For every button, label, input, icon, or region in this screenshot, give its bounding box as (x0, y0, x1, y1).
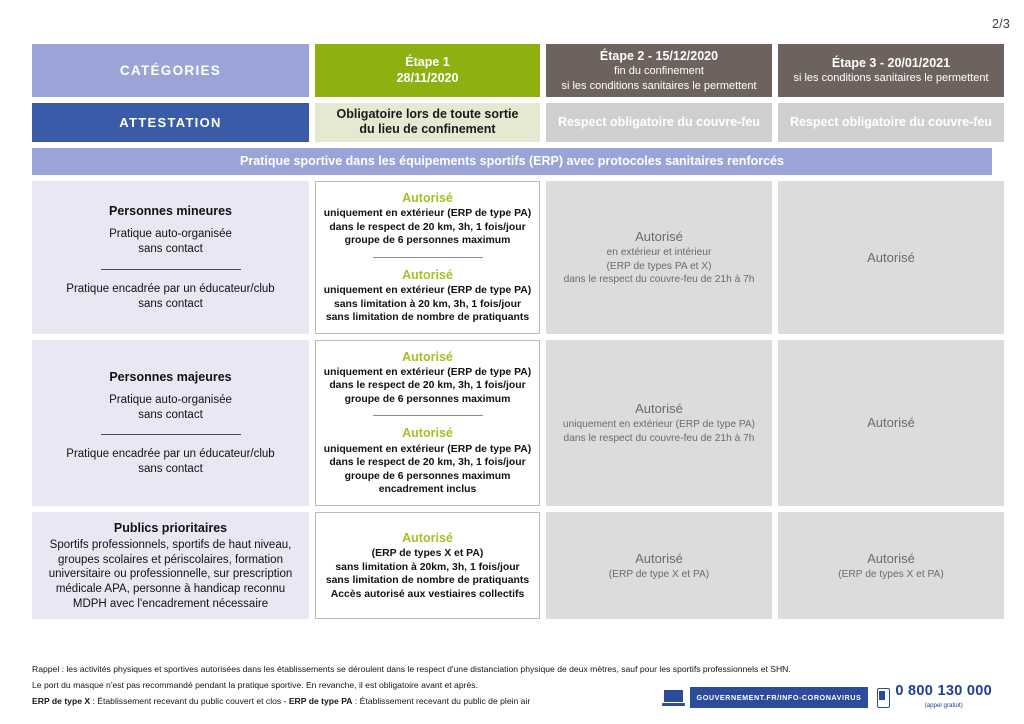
step-1-a-line3: groupe de 6 personnes maximum (324, 393, 531, 407)
step-1-a-line4: Accès autorisé aux vestiaires collectifs (326, 588, 529, 602)
step-1-divider (373, 415, 483, 416)
attestation-step-3: Respect obligatoire du couvre-feu (778, 103, 1004, 142)
hotline-number: 0 800 130 000 (895, 684, 992, 699)
category-title: Personnes mineures (109, 203, 232, 219)
step-3-line1: (ERP de types X et PA) (838, 568, 944, 582)
category-title: Personnes majeures (109, 369, 231, 385)
step-2-line1: en extérieur et intérieur (564, 246, 755, 260)
category-divider (101, 269, 241, 270)
step-1-block-b: Autorisé uniquement en extérieur (ERP de… (324, 267, 531, 325)
step-1-a-line1: (ERP de types X et PA) (326, 547, 529, 561)
step-1-b-line2: sans limitation à 20 km, 3h, 1 fois/jour (324, 298, 531, 312)
footer-line-1: Rappel : les activités physiques et spor… (32, 662, 992, 678)
table-row: Personnes majeures Pratique auto-organis… (32, 340, 992, 506)
step-1-cell-prioritaires: Autorisé (ERP de types X et PA) sans lim… (315, 512, 540, 620)
attestation-step-3-text: Respect obligatoire du couvre-feu (790, 115, 992, 129)
status-autorise: Autorisé (564, 228, 755, 245)
category-block-2: Pratique encadrée par un éducateur/club … (66, 282, 274, 311)
category-block-2-line2: sans contact (66, 462, 274, 477)
category-line5: MDPH avec l'encadrement nécessaire (49, 597, 293, 612)
step-1-a-line2: sans limitation à 20km, 3h, 1 fois/jour (326, 561, 529, 575)
header-step-2: Étape 2 - 15/12/2020 fin du confinement … (546, 44, 772, 97)
header-step-1: Étape 1 28/11/2020 (315, 44, 540, 97)
footer-erp-x-text: : Établissement recevant du public couve… (90, 696, 289, 706)
category-block-2: Pratique encadrée par un éducateur/club … (66, 447, 274, 476)
attestation-label: ATTESTATION (32, 103, 309, 142)
attestation-label-text: ATTESTATION (119, 115, 221, 130)
header-categories-label: CATÉGORIES (120, 63, 221, 78)
step-1-a-line3: groupe de 6 personnes maximum (324, 234, 531, 248)
category-line3: universitaire ou professionnelle, sur pr… (49, 567, 293, 582)
attestation-step-1-line1: Obligatoire lors de toute sortie (337, 107, 519, 123)
category-block-1: Pratique auto-organisée sans contact (109, 393, 232, 422)
section-banner: Pratique sportive dans les équipements s… (32, 148, 992, 175)
step-2-line2: (ERP de types PA et X) (564, 260, 755, 274)
category-block-2-line1: Pratique encadrée par un éducateur/club (66, 447, 274, 462)
step-1-a-line1: uniquement en extérieur (ERP de type PA) (324, 207, 531, 221)
status-autorise: Autorisé (324, 425, 531, 441)
attestation-step-1-line2: du lieu de confinement (337, 122, 519, 138)
step-2-line2: dans le respect du couvre-feu de 21h à 7… (563, 432, 755, 446)
category-block-1: Pratique auto-organisée sans contact (109, 227, 232, 256)
step-2-cell-mineures: Autorisé en extérieur et intérieur (ERP … (546, 181, 772, 334)
attestation-step-2: Respect obligatoire du couvre-feu (546, 103, 772, 142)
page-number: 2/3 (992, 17, 1010, 31)
table-row: Publics prioritaires Sportifs profession… (32, 512, 992, 620)
table-header-row: CATÉGORIES Étape 1 28/11/2020 Étape 2 - … (32, 44, 992, 97)
status-autorise: Autorisé (838, 550, 944, 567)
step-1-block-a: Autorisé uniquement en extérieur (ERP de… (324, 349, 531, 407)
category-cell-mineures: Personnes mineures Pratique auto-organis… (32, 181, 309, 334)
step-3-cell-prioritaires: Autorisé (ERP de types X et PA) (778, 512, 1004, 620)
step-1-divider (373, 257, 483, 258)
header-step-1-title: Étape 1 (405, 54, 449, 70)
attestation-row: ATTESTATION Obligatoire lors de toute so… (32, 103, 992, 142)
status-autorise: Autorisé (867, 249, 915, 266)
step-1-b-line3: groupe de 6 personnes maximum (324, 470, 531, 484)
header-step-1-date: 28/11/2020 (397, 70, 459, 86)
government-website-badge[interactable]: GOUVERNEMENT.FR/INFO-CORONAVIRUS (690, 687, 869, 708)
step-1-b-line3: sans limitation de nombre de pratiquants (324, 311, 531, 325)
step-3-cell-mineures: Autorisé (778, 181, 1004, 334)
category-divider (101, 434, 241, 435)
attestation-step-1: Obligatoire lors de toute sortie du lieu… (315, 103, 540, 142)
step-2-line1: (ERP de type X et PA) (609, 568, 709, 582)
status-autorise: Autorisé (324, 349, 531, 365)
step-2-cell-prioritaires: Autorisé (ERP de type X et PA) (546, 512, 772, 620)
step-1-block-a: Autorisé uniquement en extérieur (ERP de… (324, 190, 531, 248)
header-categories: CATÉGORIES (32, 44, 309, 97)
category-block-1-line1: Pratique auto-organisée (109, 393, 232, 408)
hotline-note: (appel gratuit) (895, 700, 992, 711)
category-block-1-line1: Pratique auto-organisée (109, 227, 232, 242)
category-cell-prioritaires: Publics prioritaires Sportifs profession… (32, 512, 309, 620)
status-autorise: Autorisé (324, 190, 531, 206)
footer: Rappel : les activités physiques et spor… (32, 662, 992, 710)
step-1-b-line2: dans le respect de 20 km, 3h, 1 fois/jou… (324, 456, 531, 470)
step-1-a-line2: dans le respect de 20 km, 3h, 1 fois/jou… (324, 379, 531, 393)
footer-erp-pa-text: : Établissement recevant du public de pl… (353, 696, 531, 706)
header-step-3: Étape 3 - 20/01/2021 si les conditions s… (778, 44, 1004, 97)
step-1-b-line4: encadrement inclus (324, 483, 531, 497)
step-3-cell-majeures: Autorisé (778, 340, 1004, 506)
header-step-3-title: Étape 3 - 20/01/2021 (832, 55, 950, 71)
status-autorise: Autorisé (867, 414, 915, 431)
laptop-icon (662, 690, 685, 706)
category-block-1-line2: sans contact (109, 242, 232, 257)
step-1-b-line1: uniquement en extérieur (ERP de type PA) (324, 284, 531, 298)
footer-erp-pa-label: ERP de type PA (289, 696, 353, 706)
category-description: Sportifs professionnels, sportifs de hau… (49, 538, 293, 612)
hotline-block: 0 800 130 000 (appel gratuit) (895, 684, 992, 711)
step-1-a-line2: dans le respect de 20 km, 3h, 1 fois/jou… (324, 221, 531, 235)
phone-icon (877, 688, 890, 708)
header-step-2-sub1: fin du confinement (614, 64, 704, 78)
header-step-3-sub1: si les conditions sanitaires le permette… (793, 71, 988, 85)
category-line1: Sportifs professionnels, sportifs de hau… (49, 538, 293, 553)
category-line4: médicale APA, personne à handicap reconn… (49, 582, 293, 597)
table-row: Personnes mineures Pratique auto-organis… (32, 181, 992, 334)
step-1-cell-majeures: Autorisé uniquement en extérieur (ERP de… (315, 340, 540, 506)
category-block-2-line2: sans contact (66, 297, 274, 312)
footer-erp-x-label: ERP de type X (32, 696, 90, 706)
step-2-cell-majeures: Autorisé uniquement en extérieur (ERP de… (546, 340, 772, 506)
category-cell-majeures: Personnes majeures Pratique auto-organis… (32, 340, 309, 506)
step-1-cell-mineures: Autorisé uniquement en extérieur (ERP de… (315, 181, 540, 334)
status-autorise: Autorisé (563, 400, 755, 417)
attestation-step-2-text: Respect obligatoire du couvre-feu (558, 115, 760, 129)
status-autorise: Autorisé (609, 550, 709, 567)
step-1-b-line1: uniquement en extérieur (ERP de type PA) (324, 443, 531, 457)
step-1-block-a: Autorisé (ERP de types X et PA) sans lim… (326, 530, 529, 601)
step-1-block-b: Autorisé uniquement en extérieur (ERP de… (324, 425, 531, 496)
step-2-line1: uniquement en extérieur (ERP de type PA) (563, 418, 755, 432)
step-1-a-line1: uniquement en extérieur (ERP de type PA) (324, 366, 531, 380)
status-autorise: Autorisé (324, 267, 531, 283)
step-2-line3: dans le respect du couvre-feu de 21h à 7… (564, 273, 755, 287)
category-title: Publics prioritaires (114, 520, 227, 536)
status-autorise: Autorisé (326, 530, 529, 546)
step-1-a-line3: sans limitation de nombre de pratiquants (326, 574, 529, 588)
category-block-2-line1: Pratique encadrée par un éducateur/club (66, 282, 274, 297)
category-block-1-line2: sans contact (109, 408, 232, 423)
header-step-2-title: Étape 2 - 15/12/2020 (600, 48, 718, 64)
category-line2: groupes scolaires et périscolaires, form… (49, 553, 293, 568)
footer-badges: GOUVERNEMENT.FR/INFO-CORONAVIRUS 0 800 1… (662, 684, 992, 711)
comparison-table: CATÉGORIES Étape 1 28/11/2020 Étape 2 - … (32, 44, 992, 625)
header-step-2-sub2: si les conditions sanitaires le permette… (561, 79, 756, 93)
